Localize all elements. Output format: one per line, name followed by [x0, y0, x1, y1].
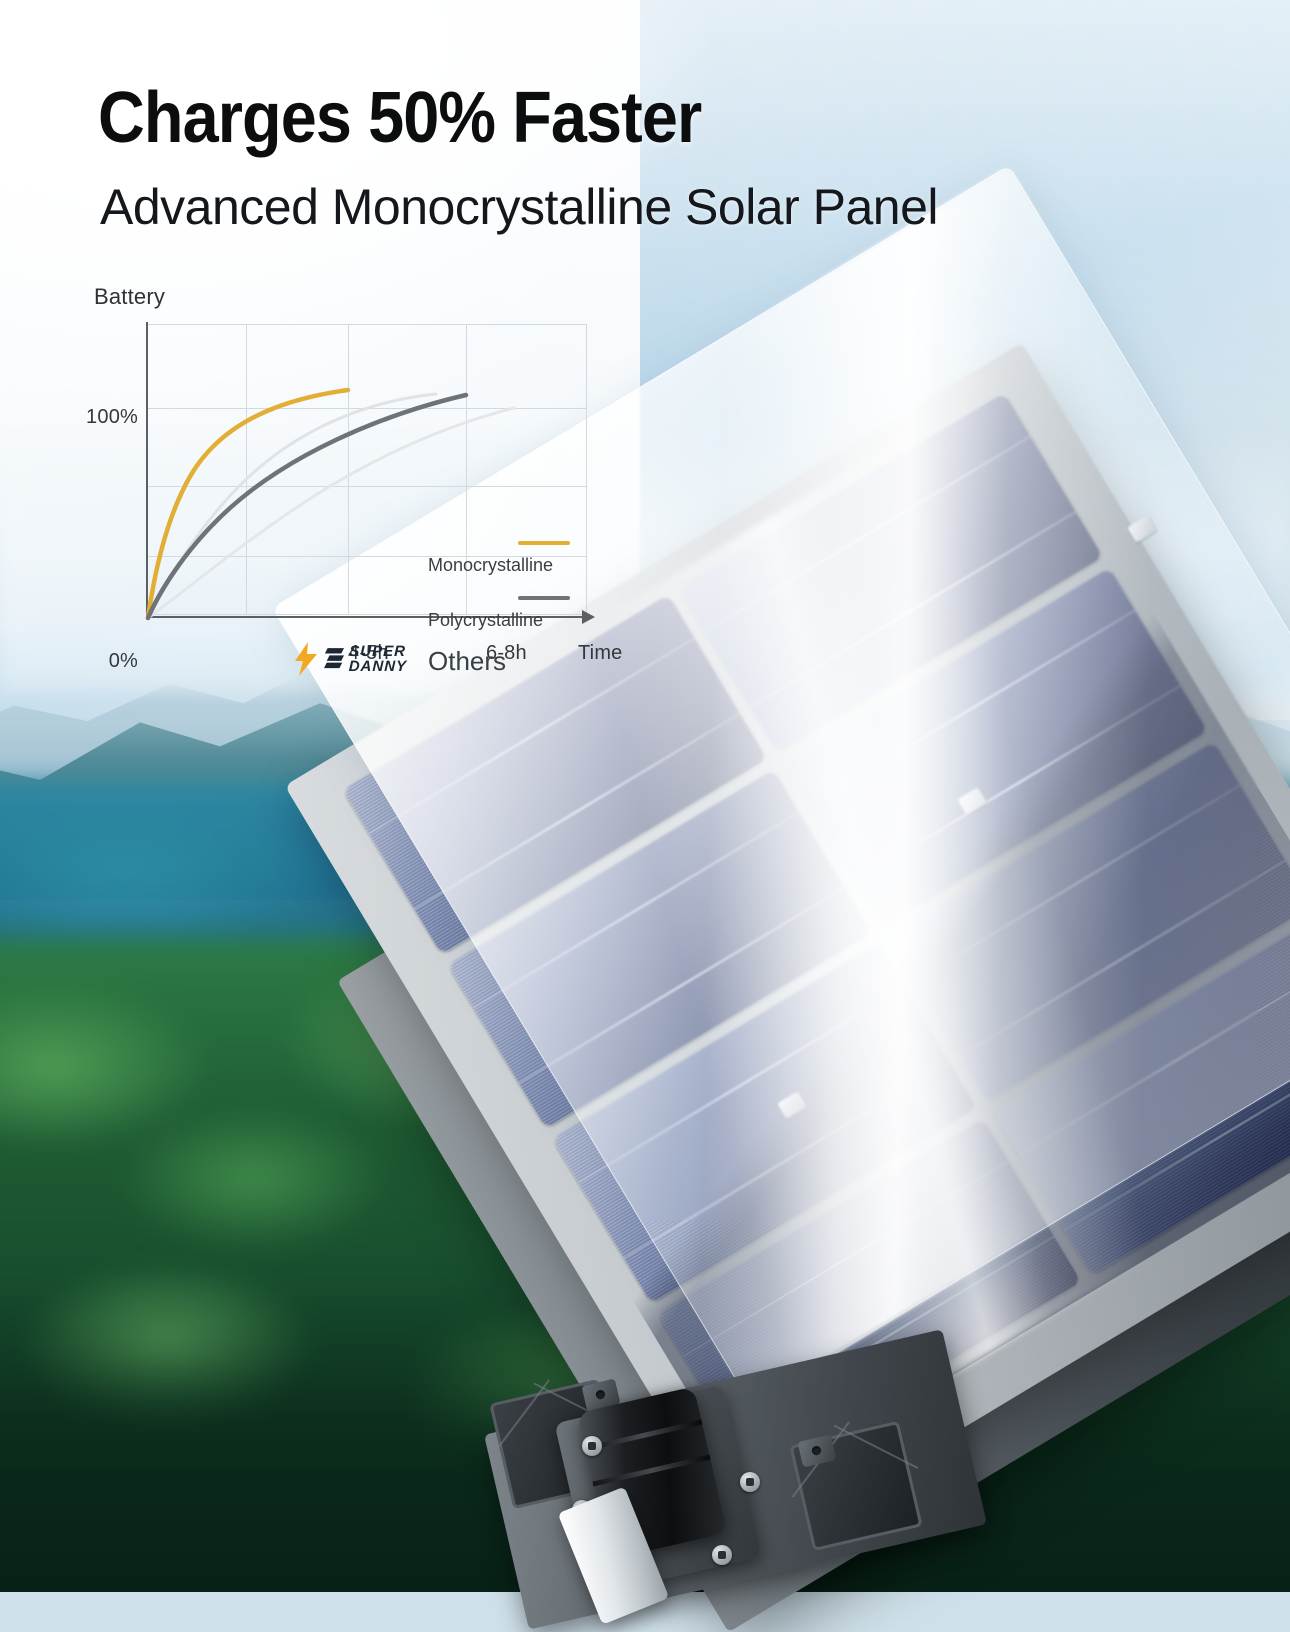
y-axis-caption: Battery: [94, 284, 165, 310]
super-danny-logo: SUPER DANNY: [293, 642, 407, 676]
lightning-bolt-icon: [293, 642, 319, 676]
legend-swatch-monocrystalline: [518, 541, 570, 545]
logo-line-1: SUPER: [349, 644, 408, 659]
others-annotation: Others: [428, 646, 506, 677]
page-subheadline: Advanced Monocrystalline Solar Panel: [100, 180, 938, 235]
mount-bolt: [712, 1545, 732, 1565]
legend-label-monocrystalline: Monocrystalline: [428, 555, 553, 576]
logo-line-2: DANNY: [348, 659, 407, 674]
charging-comparison-chart: Battery 100% 0% 4-5h 6-8h Time: [88, 284, 598, 704]
y-tick-0: 0%: [86, 650, 138, 673]
y-tick-100: 100%: [86, 406, 138, 429]
solar-panel-assembly: [0, 0, 1290, 1592]
page-headline: Charges 50% Faster: [98, 82, 701, 154]
chart-curves: [146, 322, 592, 622]
logo-bars-icon: [324, 647, 344, 671]
mount-bolt: [582, 1436, 602, 1456]
legend-swatch-polycrystalline: [518, 596, 570, 600]
logo-wordmark: SUPER DANNY: [348, 644, 407, 674]
mount-bolt: [740, 1472, 760, 1492]
x-axis-caption: Time: [578, 642, 623, 665]
legend-label-polycrystalline: Polycrystalline: [428, 610, 543, 631]
